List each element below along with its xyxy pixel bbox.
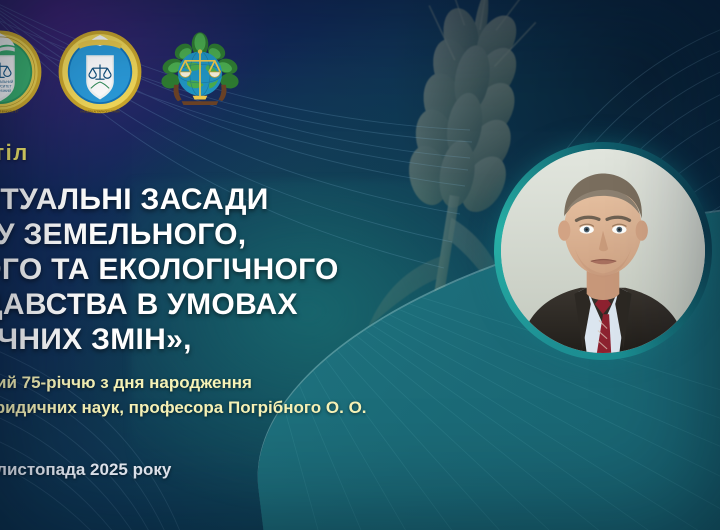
title-line-1: ЦЕПТУАЛЬНІ ЗАСАДИ: [0, 182, 496, 217]
title-line-2: ИТКУ ЗЕМЕЛЬНОГО,: [0, 217, 496, 252]
title-line-4: НОДАВСТВА В УМОВАХ: [0, 287, 496, 322]
title-line-3: РНОГО ТА ЕКОЛОГІЧНОГО: [0, 252, 496, 287]
kicker-label: ий стіл: [0, 140, 29, 166]
title-line-5: АТИЧНИХ ЗМІН»,: [0, 322, 496, 357]
subtitle-line-1: нений 75-річчю з дня народження: [0, 370, 526, 395]
page-title: ЦЕПТУАЛЬНІ ЗАСАДИ ИТКУ ЗЕМЕЛЬНОГО, РНОГО…: [0, 182, 496, 357]
banner-text: ий стіл ЦЕПТУАЛЬНІ ЗАСАДИ ИТКУ ЗЕМЕЛЬНОГ…: [0, 0, 720, 530]
event-banner: НАЦІОНАЛЬНИЙ УНІВЕРСИТЕТ ЮРИДИЧНИЙ ЮРИДИ…: [0, 0, 720, 530]
event-date: 8 листопада 2025 року: [0, 460, 171, 480]
subtitle: нений 75-річчю з дня народження а юридич…: [0, 370, 526, 420]
subtitle-line-2: а юридичних наук, професора Погрібного О…: [0, 395, 526, 420]
